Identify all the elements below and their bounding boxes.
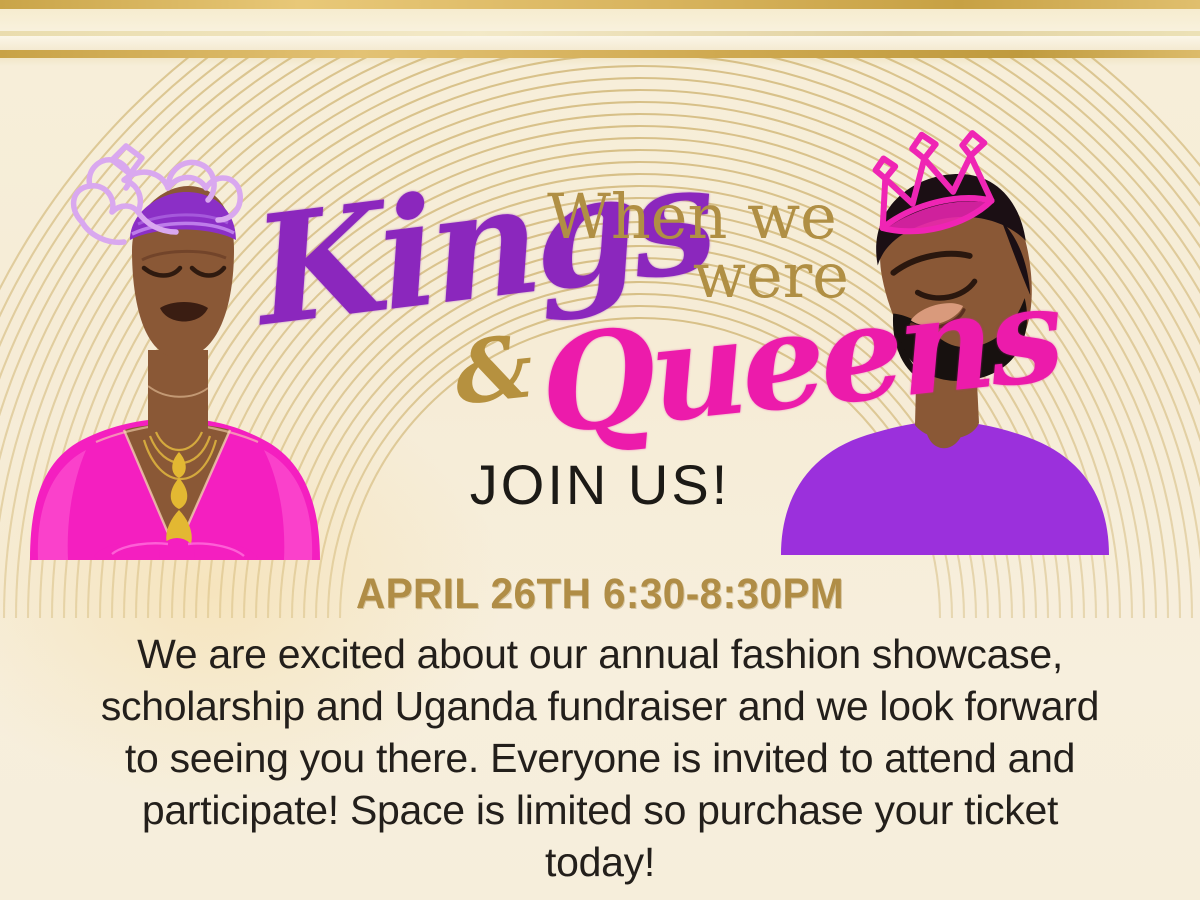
title-when-we-were: When we were — [527, 188, 857, 306]
description-line-3: to seeing you there. Everyone is invited… — [50, 732, 1150, 784]
event-date-time: APRIL 26TH 6:30-8:30PM — [36, 570, 1164, 619]
gold-band-4 — [0, 36, 1200, 50]
gold-band-2 — [0, 9, 1200, 31]
gold-band-1 — [0, 0, 1200, 9]
description-line-1: We are excited about our annual fashion … — [50, 628, 1150, 680]
event-flyer: Kings & Queens When we were JOIN US! APR… — [0, 0, 1200, 900]
description-line-5: today! — [50, 836, 1150, 888]
title-wordmark: Kings & Queens When we were — [0, 110, 1200, 440]
gold-band-5 — [0, 50, 1200, 58]
gold-border-bands — [0, 0, 1200, 66]
join-us-heading: JOIN US! — [0, 452, 1200, 517]
event-description: We are excited about our annual fashion … — [50, 628, 1150, 888]
title-were: were — [527, 247, 857, 306]
title-ampersand: & — [451, 324, 537, 418]
description-line-2: scholarship and Uganda fundraiser and we… — [50, 680, 1150, 732]
description-line-4: participate! Space is limited so purchas… — [50, 784, 1150, 836]
